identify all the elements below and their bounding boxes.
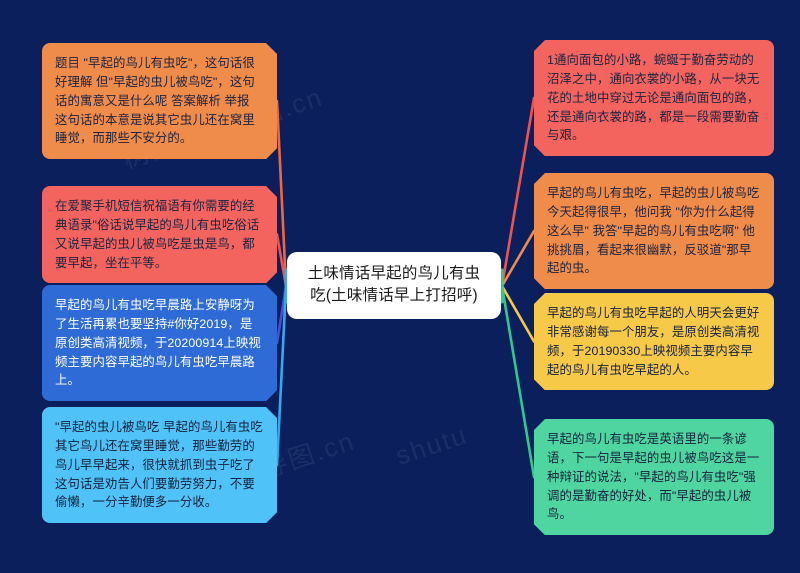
branch-node-label: 在爱聚手机短信祝福语有你需要的经典语录"俗话说早起的鸟儿有虫吃俗话又说早起的虫儿… (55, 197, 264, 272)
branch-node-label: 早起的鸟儿有虫吃早晨路上安静呀为了生活再累也要坚持#你好2019，是原创类高清视… (55, 296, 264, 390)
branch-node-label: 早起的鸟儿有虫吃早起的人明天会更好非常感谢每一个朋友，是原创类高清视频，于201… (547, 304, 761, 379)
branch-node-label: 1通向面包的小路，蜿蜒于勤奋劳动的沼泽之中，通向衣裳的小路，从一块无花的土地中穿… (547, 51, 761, 145)
branch-node-left-1[interactable]: 题目 "早起的鸟儿有虫吃"，这句话很好理解 但"早起的虫儿被鸟吃"，这句话的寓意… (42, 43, 277, 159)
center-node[interactable]: 土味情话早起的鸟儿有虫吃(土味情话早上打招呼) (287, 252, 501, 319)
branch-node-left-4[interactable]: "早起的虫儿被鸟吃 早起的鸟儿有虫吃其它鸟儿还在窝里睡觉，那些勤劳的鸟儿早早起来… (42, 407, 277, 523)
branch-node-label: 早起的鸟儿有虫吃是英语里的一条谚语，下一句是早起的虫儿被鸟吃这是一种辩证的说法，… (547, 430, 761, 524)
center-node-label: 土味情话早起的鸟儿有虫吃(土味情话早上打招呼) (308, 265, 481, 304)
branch-node-label: "早起的虫儿被鸟吃 早起的鸟儿有虫吃其它鸟儿还在窝里睡觉，那些勤劳的鸟儿早早起来… (55, 418, 264, 512)
branch-node-left-2[interactable]: 在爱聚手机短信祝福语有你需要的经典语录"俗话说早起的鸟儿有虫吃俗话又说早起的虫儿… (42, 186, 277, 283)
branch-node-right-3[interactable]: 早起的鸟儿有虫吃早起的人明天会更好非常感谢每一个朋友，是原创类高清视频，于201… (534, 293, 774, 390)
branch-node-label: 早起的鸟儿有虫吃，早起的虫儿被鸟吃 今天起得很早，他问我 "你为什么起得这么早"… (547, 184, 761, 278)
branch-node-left-3[interactable]: 早起的鸟儿有虫吃早晨路上安静呀为了生活再累也要坚持#你好2019，是原创类高清视… (42, 285, 277, 401)
branch-node-label: 题目 "早起的鸟儿有虫吃"，这句话很好理解 但"早起的虫儿被鸟吃"，这句话的寓意… (55, 54, 264, 148)
watermark-text: shutu (392, 419, 472, 471)
branch-node-right-2[interactable]: 早起的鸟儿有虫吃，早起的虫儿被鸟吃 今天起得很早，他问我 "你为什么起得这么早"… (534, 173, 774, 289)
branch-node-right-1[interactable]: 1通向面包的小路，蜿蜒于勤奋劳动的沼泽之中，通向衣裳的小路，从一块无花的土地中穿… (534, 40, 774, 156)
branch-node-right-4[interactable]: 早起的鸟儿有虫吃是英语里的一条谚语，下一句是早起的虫儿被鸟吃这是一种辩证的说法，… (534, 419, 774, 535)
mindmap-canvas: 树图思维导图.cn shutu.cn 树图思维导图.cn shutu.cn sh… (0, 0, 800, 573)
